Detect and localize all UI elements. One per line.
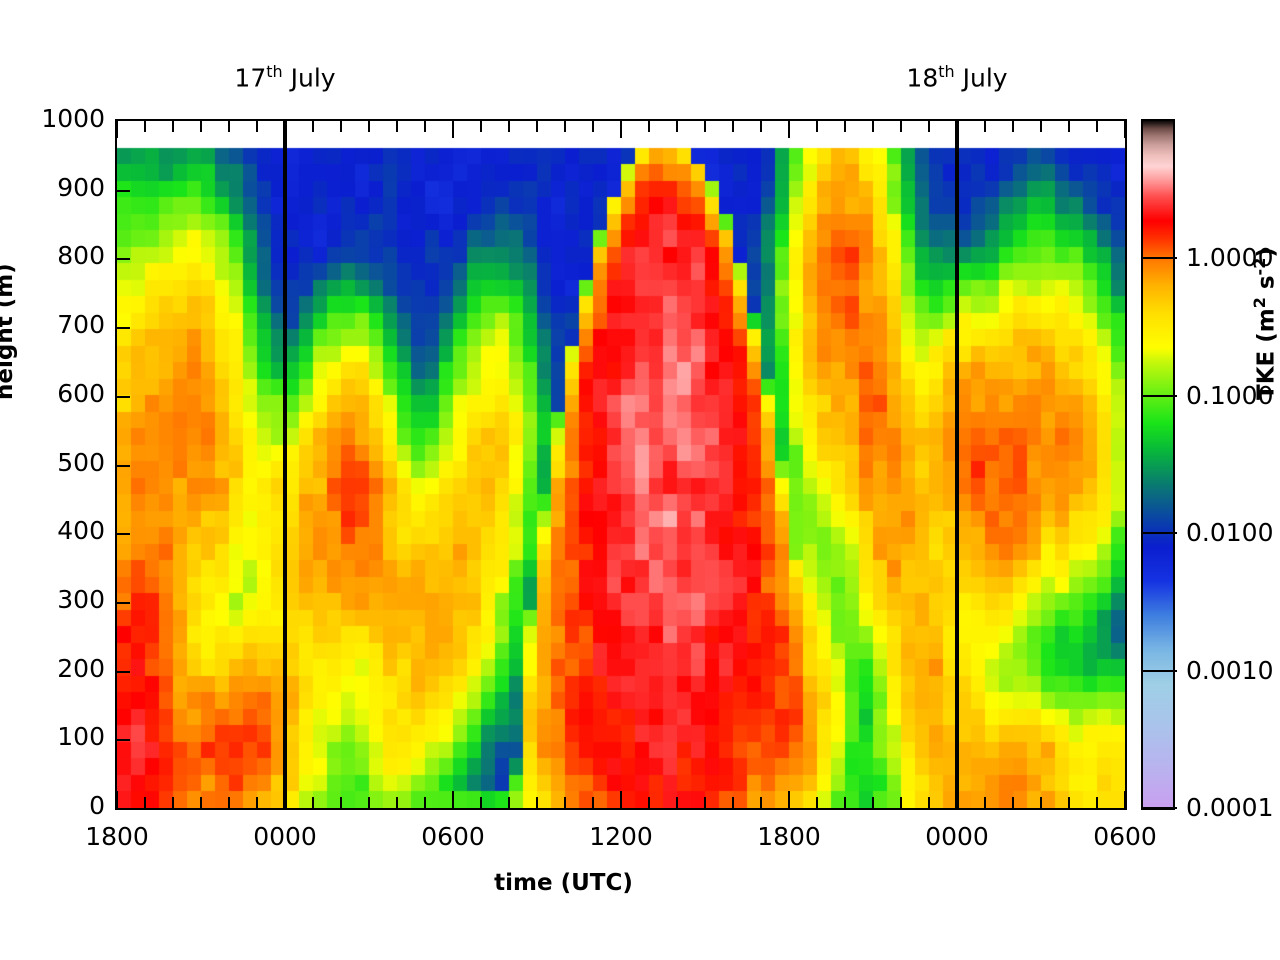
x-axis-tick-mark xyxy=(480,121,482,132)
x-axis-tick-mark xyxy=(676,797,678,808)
y-axis-tick-mark xyxy=(117,396,130,398)
month-name: July xyxy=(955,63,1008,92)
x-axis-tick-mark xyxy=(424,797,426,808)
x-axis-tick-mark xyxy=(844,121,846,132)
x-axis-tick-mark xyxy=(984,121,986,132)
x-axis-tick-mark xyxy=(396,121,398,132)
x-axis-tick-mark xyxy=(1012,121,1014,132)
x-axis-tick-mark xyxy=(1068,121,1070,132)
x-axis-tick-mark xyxy=(984,797,986,808)
colorbar-tick-mark xyxy=(1141,807,1177,809)
colorbar-tick-mark xyxy=(1141,257,1177,259)
x-axis-tick-mark xyxy=(284,121,286,138)
colorbar-tick-label: 0.0010 xyxy=(1186,658,1273,683)
x-axis-tick-mark xyxy=(648,797,650,808)
x-axis-tick-mark xyxy=(536,121,538,132)
x-axis-tick-mark xyxy=(396,797,398,808)
colorbar-tick-mark xyxy=(1141,670,1177,672)
x-axis-tick-mark xyxy=(172,797,174,808)
x-axis-tick-mark xyxy=(732,797,734,808)
x-axis-tick-label: 1800 xyxy=(57,824,177,849)
x-axis-tick-mark xyxy=(816,797,818,808)
x-axis-tick-mark xyxy=(816,121,818,132)
x-axis-tick-mark xyxy=(172,121,174,132)
x-axis-tick-mark xyxy=(256,121,258,132)
x-axis-tick-mark xyxy=(704,121,706,132)
x-axis-tick-mark xyxy=(424,121,426,132)
y-axis-tick-label: 600 xyxy=(57,381,105,406)
x-axis-tick-mark xyxy=(592,797,594,808)
x-axis-tick-mark xyxy=(844,797,846,808)
y-axis-tick-labels: 01002003004005006007008009001000 xyxy=(0,119,105,810)
y-axis-tick-label: 900 xyxy=(57,175,105,200)
x-axis-tick-mark xyxy=(788,791,790,808)
x-axis-tick-mark xyxy=(340,797,342,808)
x-axis-tick-mark xyxy=(760,797,762,808)
x-axis-tick-mark xyxy=(1040,121,1042,132)
heatmap-plot-area xyxy=(115,119,1127,810)
x-axis-tick-mark xyxy=(872,121,874,132)
x-axis-tick-mark xyxy=(340,121,342,132)
colorbar-title-suffix: ) xyxy=(1254,247,1280,258)
y-axis-tick-label: 300 xyxy=(57,587,105,612)
x-axis-tick-mark xyxy=(956,791,958,808)
colorbar-tick-mark xyxy=(1141,395,1177,397)
x-axis-tick-mark xyxy=(648,121,650,132)
y-axis-tick-label: 500 xyxy=(57,450,105,475)
y-axis-tick-mark xyxy=(117,465,130,467)
x-axis-tick-mark xyxy=(900,797,902,808)
x-axis-tick-label: 1800 xyxy=(729,824,849,849)
colorbar-title-prefix: TKE (m xyxy=(1254,308,1280,400)
day-label-18: 18th July xyxy=(847,62,1067,92)
x-axis-tick-mark xyxy=(116,121,118,138)
colorbar-title-sup-2: -2 xyxy=(1250,258,1269,276)
y-axis-tick-label: 400 xyxy=(57,518,105,543)
y-axis-tick-label: 800 xyxy=(57,243,105,268)
x-axis-tick-mark xyxy=(1068,797,1070,808)
x-axis-tick-mark xyxy=(900,121,902,132)
x-axis-tick-label: 0000 xyxy=(897,824,1017,849)
x-axis-tick-mark xyxy=(592,121,594,132)
x-axis-tick-mark xyxy=(1096,121,1098,132)
x-axis-tick-mark xyxy=(116,791,118,808)
y-axis-tick-label: 100 xyxy=(57,724,105,749)
x-axis-tick-mark xyxy=(1124,121,1126,138)
day-annotations: 17th July18th July xyxy=(0,62,1127,96)
x-axis-tick-label: 0000 xyxy=(225,824,345,849)
y-axis-tick-mark xyxy=(117,258,130,260)
x-axis-tick-mark xyxy=(1096,797,1098,808)
heatmap-canvas xyxy=(117,121,1125,808)
y-axis-tick-mark xyxy=(117,190,130,192)
x-axis-tick-mark xyxy=(928,121,930,132)
x-axis-tick-mark xyxy=(508,797,510,808)
midnight-marker-17th xyxy=(283,121,287,808)
y-axis-tick-mark xyxy=(117,602,130,604)
colorbar-gradient xyxy=(1143,121,1173,808)
x-axis-tick-mark xyxy=(144,797,146,808)
day-label-17: 17th July xyxy=(175,62,395,92)
x-axis-tick-mark xyxy=(620,791,622,808)
y-axis-tick-mark xyxy=(117,671,130,673)
day-ordinal-suffix: th xyxy=(938,62,954,81)
x-axis-tick-label: 0600 xyxy=(1065,824,1185,849)
x-axis-tick-mark xyxy=(284,791,286,808)
x-axis-tick-mark xyxy=(508,121,510,132)
x-axis-tick-mark xyxy=(928,797,930,808)
x-axis-tick-mark xyxy=(452,121,454,138)
month-name: July xyxy=(283,63,336,92)
x-axis-tick-mark xyxy=(956,121,958,138)
x-axis-tick-mark xyxy=(1124,791,1126,808)
colorbar-title: TKE (m2 s-2) xyxy=(1250,247,1280,400)
x-axis-tick-mark xyxy=(676,121,678,132)
x-axis-tick-mark xyxy=(480,797,482,808)
day-number: 17 xyxy=(234,63,266,92)
day-number: 18 xyxy=(906,63,938,92)
colorbar xyxy=(1141,119,1175,810)
x-axis-tick-label: 1200 xyxy=(561,824,681,849)
colorbar-title-sup-1: 2 xyxy=(1250,297,1269,308)
y-axis-tick-mark xyxy=(117,327,130,329)
colorbar-tick-label: 0.0001 xyxy=(1186,795,1273,820)
x-axis-tick-mark xyxy=(368,121,370,132)
x-axis-tick-mark xyxy=(788,121,790,138)
x-axis-tick-mark xyxy=(704,797,706,808)
midnight-marker-18th xyxy=(955,121,959,808)
x-axis-tick-mark xyxy=(760,121,762,132)
x-axis-title: time (UTC) xyxy=(0,870,1127,896)
y-axis-tick-label: 700 xyxy=(57,312,105,337)
x-axis-tick-mark xyxy=(564,797,566,808)
x-axis-tick-mark xyxy=(872,797,874,808)
x-axis-tick-mark xyxy=(144,121,146,132)
x-axis-tick-mark xyxy=(564,121,566,132)
x-axis-tick-mark xyxy=(312,121,314,132)
x-axis-tick-mark xyxy=(536,797,538,808)
x-axis-tick-mark xyxy=(312,797,314,808)
colorbar-tick-mark xyxy=(1141,532,1177,534)
y-axis-title: height (m) xyxy=(0,263,18,400)
y-axis-tick-mark xyxy=(117,739,130,741)
colorbar-title-mid: s xyxy=(1254,275,1280,297)
x-axis-tick-mark xyxy=(228,797,230,808)
y-axis-tick-label: 200 xyxy=(57,656,105,681)
x-axis-tick-mark xyxy=(228,121,230,132)
y-axis-tick-mark xyxy=(117,533,130,535)
x-axis-tick-mark xyxy=(1012,797,1014,808)
x-axis-tick-mark xyxy=(620,121,622,138)
x-axis-tick-mark xyxy=(1040,797,1042,808)
day-ordinal-suffix: th xyxy=(266,62,282,81)
x-axis-tick-labels: 1800000006001200180000000600 xyxy=(0,824,1200,858)
x-axis-tick-mark xyxy=(256,797,258,808)
x-axis-tick-mark xyxy=(732,121,734,132)
y-axis-tick-label: 1000 xyxy=(41,106,105,131)
x-axis-tick-mark xyxy=(200,121,202,132)
x-axis-tick-mark xyxy=(200,797,202,808)
x-axis-tick-mark xyxy=(452,791,454,808)
colorbar-tick-label: 0.0100 xyxy=(1186,520,1273,545)
y-axis-tick-label: 0 xyxy=(89,793,105,818)
x-axis-tick-mark xyxy=(368,797,370,808)
x-axis-tick-label: 0600 xyxy=(393,824,513,849)
